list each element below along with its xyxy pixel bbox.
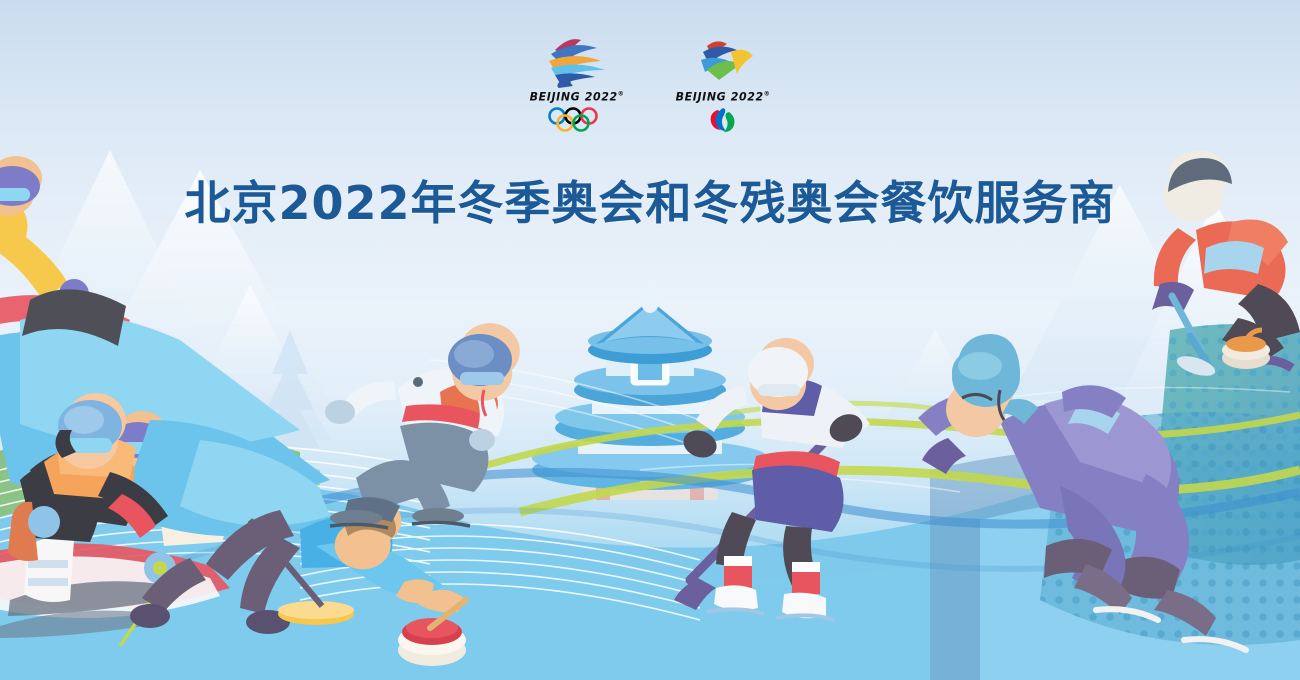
short-track-speed-skater	[325, 323, 520, 528]
olympic-wordmark: BEIJING 2022®	[530, 89, 625, 103]
emblem-row: BEIJING 2022® BEIJING 2022®	[0, 30, 1300, 140]
paralympic-agitos-icon	[673, 106, 773, 132]
paralympic-emblem-block: BEIJING 2022®	[673, 30, 773, 132]
page-title: 北京2022年冬季奥会和冬残奥会餐饮服务商	[0, 174, 1300, 233]
olympic-emblem-block: BEIJING 2022®	[527, 30, 627, 132]
beijing-2022-paralympic-emblem-icon	[673, 30, 773, 88]
paralympic-wordmark: BEIJING 2022®	[676, 89, 771, 103]
olympic-rings-icon	[527, 106, 627, 132]
speed-skater	[918, 334, 1246, 650]
beijing-2022-olympic-emblem-icon	[527, 30, 627, 88]
beijing-2022-catering-banner: BEIJING 2022® BEIJING 2022®	[0, 0, 1300, 680]
ice-hockey-player	[674, 338, 870, 620]
